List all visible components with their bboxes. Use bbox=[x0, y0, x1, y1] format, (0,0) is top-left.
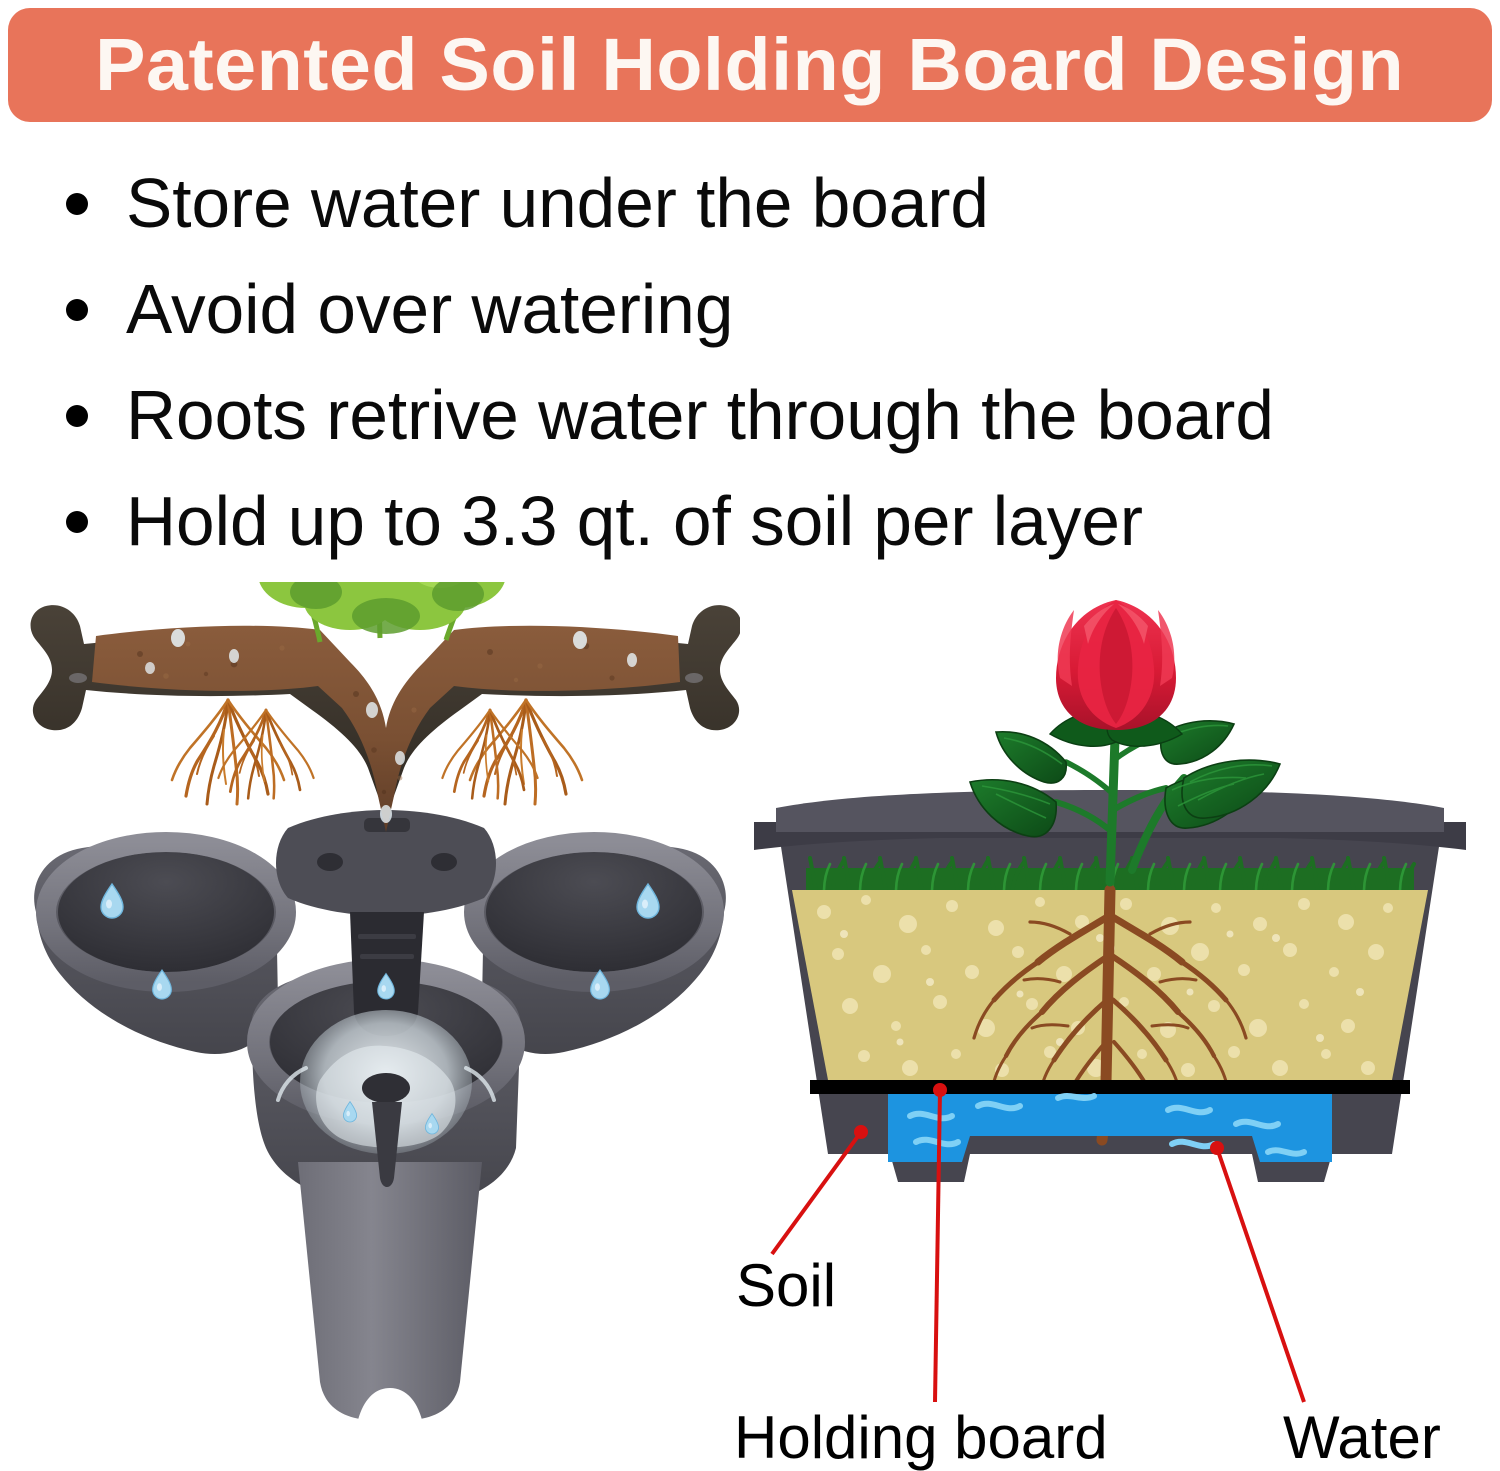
feature-list: Store water under the board Avoid over w… bbox=[54, 160, 1454, 584]
tube-ridge-1 bbox=[358, 934, 416, 939]
board-eyelet-left bbox=[69, 673, 87, 683]
bullet-dot-icon bbox=[66, 193, 88, 215]
feature-text: Avoid over watering bbox=[126, 273, 733, 347]
header-banner: Patented Soil Holding Board Design bbox=[8, 8, 1492, 122]
hub-hole-right bbox=[431, 853, 457, 871]
holding-board-line bbox=[810, 1080, 1410, 1094]
tube-ridge-2 bbox=[360, 954, 414, 959]
feature-text: Hold up to 3.3 qt. of soil per layer bbox=[126, 485, 1143, 559]
bullet-dot-icon bbox=[66, 299, 88, 321]
drain-nozzle bbox=[362, 1073, 410, 1103]
page-title: Patented Soil Holding Board Design bbox=[96, 28, 1405, 102]
list-item: Store water under the board bbox=[54, 160, 1454, 248]
list-item: Roots retrive water through the board bbox=[54, 372, 1454, 460]
callout-line-soil bbox=[772, 1132, 861, 1254]
figures-area bbox=[0, 582, 1500, 1469]
planter-cavity-left bbox=[58, 852, 274, 972]
feature-text: Store water under the board bbox=[126, 167, 989, 241]
board-eyelet-right bbox=[685, 673, 703, 683]
bullet-dot-icon bbox=[66, 511, 88, 533]
callout-line-water bbox=[1217, 1148, 1304, 1402]
list-item: Avoid over watering bbox=[54, 266, 1454, 354]
planter-cavity-right bbox=[486, 852, 702, 972]
feature-text: Roots retrive water through the board bbox=[126, 379, 1274, 453]
callout-label-soil: Soil bbox=[736, 1256, 836, 1316]
stackable-planter-photo bbox=[20, 582, 740, 1469]
bullet-dot-icon bbox=[66, 405, 88, 427]
list-item: Hold up to 3.3 qt. of soil per layer bbox=[54, 478, 1454, 566]
planter-cone-foot bbox=[298, 1162, 482, 1420]
planter-cross-section-diagram bbox=[720, 582, 1500, 1469]
hub-hole-left bbox=[317, 853, 343, 871]
rose-bud-icon bbox=[1056, 600, 1176, 730]
callout-label-water: Water bbox=[1283, 1408, 1441, 1468]
holding-board-soil bbox=[92, 626, 680, 832]
callout-label-holding-board: Holding board bbox=[734, 1408, 1108, 1468]
